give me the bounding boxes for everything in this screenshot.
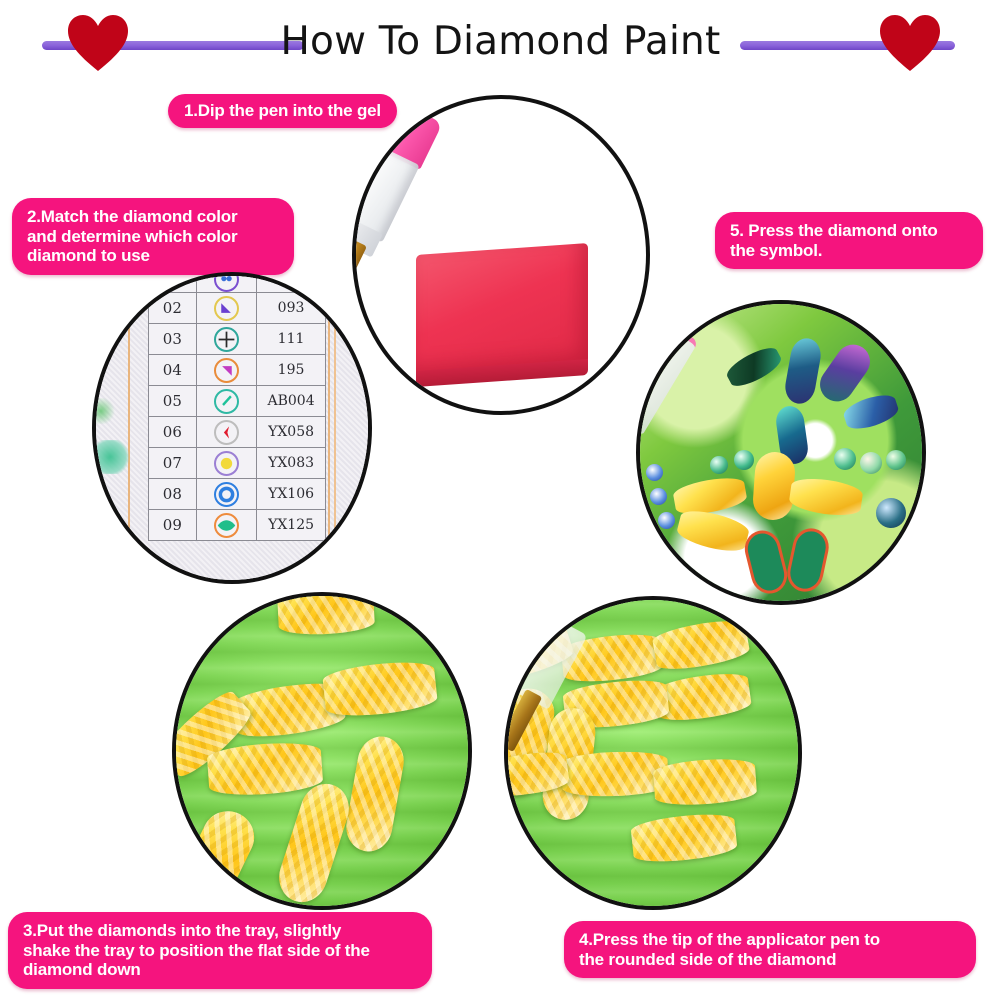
chart-code-cell: YX106 (257, 479, 326, 510)
chart-symbol-cell (196, 448, 256, 479)
diamond (630, 811, 738, 866)
chart-number-cell: 07 (149, 448, 197, 479)
step-3-photo (172, 592, 472, 910)
triangle-right-icon (214, 358, 239, 383)
symbol-cell-content (197, 386, 256, 416)
green-diamond-tray (506, 598, 800, 908)
chart-code-cell: 195 (257, 355, 326, 386)
page-title: How To Diamond Paint (0, 16, 1001, 68)
step-3-label: 3.Put the diamonds into the tray, slight… (8, 912, 432, 989)
gem-round-stone (886, 450, 906, 470)
slash-oval-icon (214, 389, 239, 414)
diamond (277, 592, 375, 636)
step-3-label-line-3: diamond down (23, 960, 417, 980)
gem-round-stone (860, 452, 882, 474)
step-1-label-line-1: 1.Dip the pen into the gel (184, 101, 381, 121)
step-2-label-line-3: diamond to use (27, 246, 279, 266)
chart-paper: 02802093031110419505AB00406YX05807YX0830… (92, 272, 372, 584)
gem-yellow-marquise (675, 506, 751, 556)
symbol-cell-content (197, 324, 256, 354)
gem-round-stone (710, 456, 728, 474)
gem-irid-marquise (782, 336, 823, 406)
gem-blue-dot (646, 464, 663, 481)
chart-symbol-cell (196, 510, 256, 541)
gem-blue-marquise (841, 390, 901, 433)
page-header: How To Diamond Paint (0, 0, 1001, 86)
chart-symbol-cell (196, 417, 256, 448)
gem-yellow-marquise (752, 451, 797, 522)
step-1-photo (352, 95, 650, 415)
table-row: 03111 (149, 324, 326, 355)
mandala-canvas (638, 302, 924, 603)
canvas-green-smudge-2 (92, 398, 116, 424)
gem-dark-round (876, 498, 906, 528)
step-4-label-line-1: 4.Press the tip of the applicator pen to (579, 930, 961, 950)
printed-petal-symbol (741, 527, 791, 598)
chart-code-cell: 028 (257, 272, 326, 293)
step-2-label-line-1: 2.Match the diamond color (27, 207, 279, 227)
table-row: 09YX125 (149, 510, 326, 541)
gel-pad (416, 243, 588, 377)
diamond (651, 616, 751, 674)
chart-symbol-cell (196, 355, 256, 386)
pen-metal-tip (636, 408, 639, 466)
symbol-cell-content (197, 479, 256, 509)
gem-yellow-marquise (788, 475, 864, 519)
step-1-label: 1.Dip the pen into the gel (168, 94, 397, 128)
step-3-label-line-2: shake the tray to position the flat side… (23, 941, 417, 961)
step-2-photo: 02802093031110419505AB00406YX05807YX0830… (92, 272, 372, 584)
applicator-pen (636, 319, 699, 470)
chart-code-cell: YX125 (257, 510, 326, 541)
chart-code-cell: YX083 (257, 448, 326, 479)
printed-petal-symbol (784, 525, 833, 595)
chart-margin-line-left (128, 272, 130, 584)
chart-symbol-cell (196, 272, 256, 293)
chart-symbol-cell (196, 324, 256, 355)
chevron-left-icon (214, 420, 239, 445)
step-2-label: 2.Match the diamond color and determine … (12, 198, 294, 275)
infographic-canvas: How To Diamond Paint 1.Dip the pen into … (0, 0, 1001, 1001)
step-5-label-line-2: the symbol. (730, 241, 968, 261)
gem-yellow-marquise (672, 474, 748, 518)
diamond (653, 756, 758, 807)
diamond (172, 802, 263, 910)
chart-number-cell (149, 272, 197, 293)
symbol-cell-content (197, 417, 256, 447)
symbol-cell-content (197, 272, 256, 292)
table-row: 05AB004 (149, 386, 326, 417)
chart-code-cell: AB004 (257, 386, 326, 417)
chart-symbol-cell (196, 293, 256, 324)
table-row: 028 (149, 272, 326, 293)
chart-code-cell: 093 (257, 293, 326, 324)
table-row: 07YX083 (149, 448, 326, 479)
symbol-cell-content (197, 448, 256, 478)
chart-symbol-cell (196, 479, 256, 510)
chart-margin-line-right (328, 272, 330, 584)
chart-number-cell: 04 (149, 355, 197, 386)
chart-number-cell: 05 (149, 386, 197, 417)
table-row: 02093 (149, 293, 326, 324)
triangle-icon (214, 296, 239, 321)
color-symbol-table: 02802093031110419505AB00406YX05807YX0830… (148, 272, 326, 541)
diamond (342, 733, 407, 855)
pen-body (636, 319, 699, 435)
symbol-cell-content (197, 355, 256, 385)
plus-icon (214, 327, 239, 352)
chart-number-cell: 08 (149, 479, 197, 510)
chart-number-cell: 02 (149, 293, 197, 324)
diamond (654, 670, 753, 725)
chart-symbol-cell (196, 386, 256, 417)
step-2-label-line-2: and determine which color (27, 227, 279, 247)
canvas-green-smudge (92, 440, 130, 474)
gem-dark-marquise (723, 342, 785, 391)
gem-round-stone (734, 450, 754, 470)
step-5-photo (636, 300, 926, 605)
symbol-cell-content (197, 293, 256, 323)
filled-dot-icon (214, 451, 239, 476)
chart-code-cell: 111 (257, 324, 326, 355)
step-4-label: 4.Press the tip of the applicator pen to… (564, 921, 976, 978)
diamond (206, 740, 323, 798)
table-row: 04195 (149, 355, 326, 386)
gem-blue-dot (658, 512, 675, 529)
step-4-label-line-2: the rounded side of the diamond (579, 950, 961, 970)
applicator-pen (352, 103, 443, 276)
chart-margin-line-right-2 (334, 272, 336, 584)
table-row: 08YX106 (149, 479, 326, 510)
step-4-photo (504, 596, 802, 910)
diamond (272, 778, 355, 909)
symbol-cell-content (197, 510, 256, 540)
gem-blue-dot (650, 488, 667, 505)
step-5-label: 5. Press the diamond onto the symbol. (715, 212, 983, 269)
chart-number-cell: 03 (149, 324, 197, 355)
green-diamond-tray (174, 594, 470, 908)
chart-number-cell: 09 (149, 510, 197, 541)
chart-code-cell: YX058 (257, 417, 326, 448)
step-3-label-line-1: 3.Put the diamonds into the tray, slight… (23, 921, 417, 941)
chart-number-cell: 06 (149, 417, 197, 448)
ring-icon (214, 482, 239, 507)
table-row: 06YX058 (149, 417, 326, 448)
step-5-label-line-1: 5. Press the diamond onto (730, 221, 968, 241)
double-dot-circle-icon (214, 272, 239, 292)
diamond (322, 658, 439, 719)
leaf-icon (214, 513, 239, 538)
gem-round-stone (834, 448, 856, 470)
